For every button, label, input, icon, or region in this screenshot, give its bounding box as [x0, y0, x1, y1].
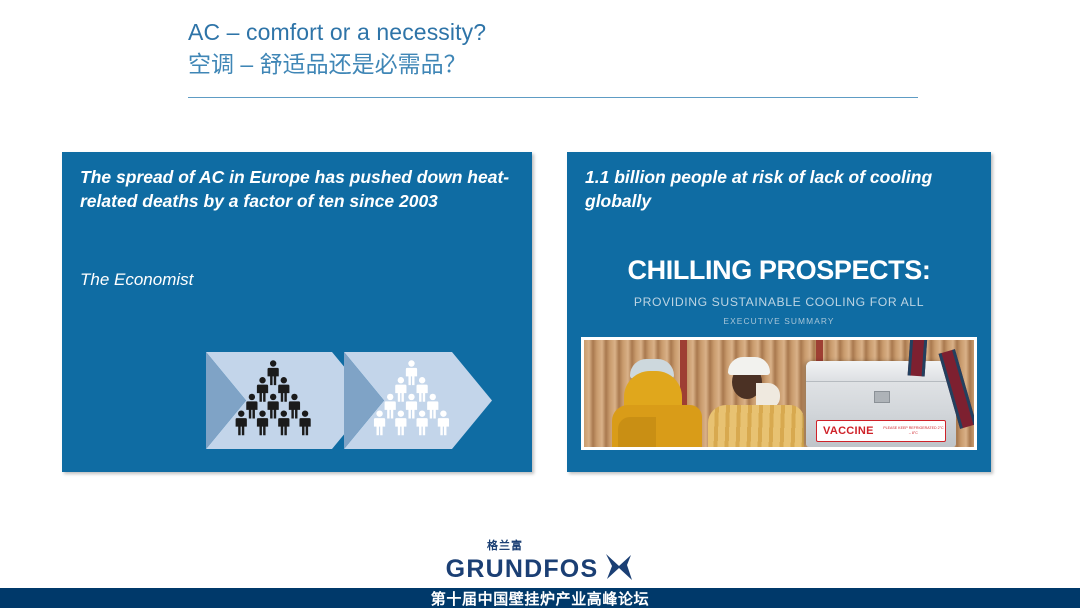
- chevron-shape-right: [344, 352, 492, 449]
- report-subtitle: PROVIDING SUSTAINABLE COOLING FOR ALL: [567, 295, 991, 309]
- page-title-chinese: 空调 – 舒适品还是必需品？: [188, 49, 928, 80]
- footer-bar: 第十届中国壁挂炉产业高峰论坛: [0, 588, 1080, 608]
- report-tagline: EXECUTIVE SUMMARY: [567, 316, 991, 326]
- grundfos-logo: 格兰富 GRUNDFOS: [0, 541, 1080, 586]
- person-seated-right: [704, 355, 804, 447]
- people-pyramid-chevron-graphic: [204, 348, 494, 453]
- vaccine-cool-box: VACCINE PLEASE KEEP REFRIGERATED 2°C – 8…: [806, 361, 956, 447]
- vaccine-label-text: VACCINE: [823, 425, 874, 437]
- left-panel-source: The Economist: [80, 270, 193, 290]
- chilling-prospects-report-cover: CHILLING PROSPECTS: PROVIDING SUSTAINABL…: [567, 247, 991, 472]
- report-cover-photo: VACCINE PLEASE KEEP REFRIGERATED 2°C – 8…: [581, 337, 977, 450]
- page-title: AC – comfort or a necessity? 空调 – 舒适品还是必…: [188, 18, 928, 80]
- vaccine-label-fine-print: PLEASE KEEP REFRIGERATED 2°C – 8°C: [882, 426, 945, 436]
- left-panel-quote: The spread of AC in Europe has pushed do…: [80, 165, 512, 213]
- right-quote-panel: 1.1 billion people at risk of lack of co…: [567, 152, 991, 472]
- title-divider: [188, 97, 918, 98]
- vaccine-label: VACCINE PLEASE KEEP REFRIGERATED 2°C – 8…: [816, 420, 946, 442]
- footer-bar-text: 第十届中国壁挂炉产业高峰论坛: [0, 588, 1080, 608]
- carry-strap: [908, 340, 928, 377]
- person-seated-left: [610, 359, 704, 447]
- right-panel-quote: 1.1 billion people at risk of lack of co…: [585, 165, 977, 213]
- page-title-english: AC – comfort or a necessity?: [188, 18, 928, 47]
- left-quote-panel: The spread of AC in Europe has pushed do…: [62, 152, 532, 472]
- grundfos-logo-wordmark: GRUNDFOS: [446, 557, 599, 582]
- grundfos-logo-chinese: 格兰富: [0, 541, 1080, 552]
- report-title: CHILLING PROSPECTS:: [567, 255, 991, 286]
- grundfos-x-mark-icon: [604, 553, 634, 586]
- slide-canvas: AC – comfort or a necessity? 空调 – 舒适品还是必…: [0, 0, 1080, 608]
